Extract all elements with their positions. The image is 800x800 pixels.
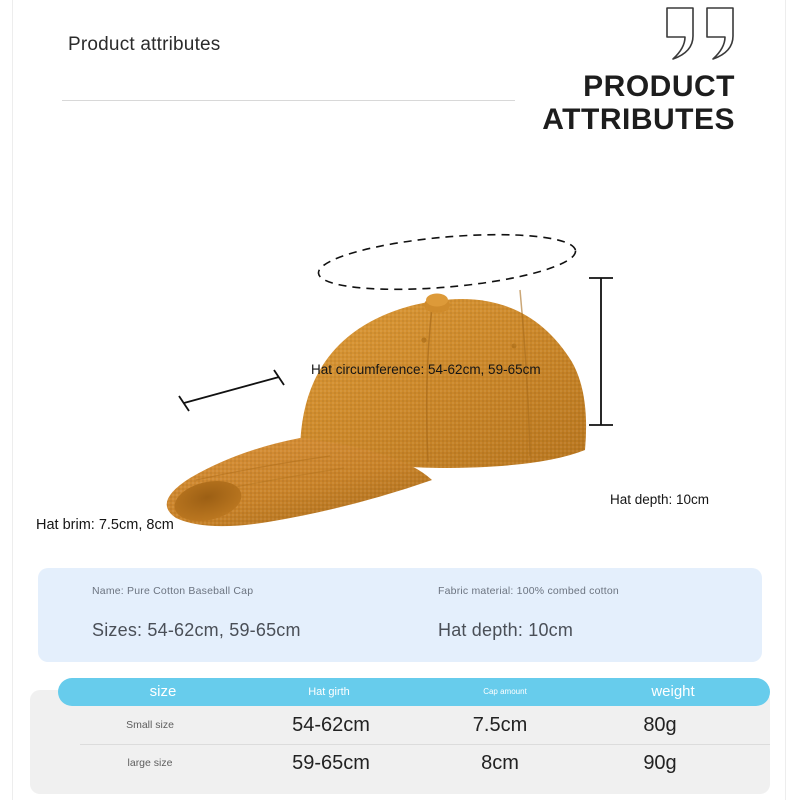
product-attributes-page: Product attributes PRODUCT ATTRIBUTES xyxy=(0,0,800,800)
column-header-hat-girth: Hat girth xyxy=(274,678,384,706)
cell-hat-girth: 59-65cm xyxy=(256,744,406,782)
table-row: large size 59-65cm 8cm 90g xyxy=(30,744,770,782)
headline-line-2: ATTRIBUTES xyxy=(275,103,735,136)
info-depth-value: Hat depth: 10cm xyxy=(438,620,573,641)
cell-hat-girth: 54-62cm xyxy=(256,706,406,744)
cell-cap-amount: 7.5cm xyxy=(430,706,570,744)
headline: PRODUCT ATTRIBUTES xyxy=(275,70,735,136)
circumference-ellipse xyxy=(316,226,577,298)
info-panel: Name: Pure Cotton Baseball Cap Fabric ma… xyxy=(38,568,762,662)
info-name-label: Name: Pure Cotton Baseball Cap xyxy=(92,585,253,597)
info-fabric-label: Fabric material: 100% combed cotton xyxy=(438,585,619,597)
annotation-depth: Hat depth: 10cm xyxy=(610,492,709,507)
annotation-brim: Hat brim: 7.5cm, 8cm xyxy=(36,517,174,533)
product-illustration: Hat circumference: 54-62cm, 59-65cm Hat … xyxy=(0,150,800,550)
cell-size: large size xyxy=(90,744,210,782)
info-sizes-value: Sizes: 54-62cm, 59-65cm xyxy=(92,620,301,641)
cap-diagram xyxy=(0,150,800,550)
headline-line-1: PRODUCT xyxy=(275,70,735,103)
cell-size: Small size xyxy=(90,706,210,744)
cap-crown xyxy=(300,290,586,468)
column-header-weight: weight xyxy=(618,678,728,706)
column-header-cap-amount: Cap amount xyxy=(450,678,560,706)
column-header-size: size xyxy=(118,678,208,706)
cell-weight: 90g xyxy=(590,744,730,782)
cell-cap-amount: 8cm xyxy=(430,744,570,782)
spec-table-header: size Hat girth Cap amount weight xyxy=(58,678,770,706)
page-title: Product attributes xyxy=(68,34,221,56)
annotation-circumference: Hat circumference: 54-62cm, 59-65cm xyxy=(311,362,541,377)
closing-quote-icon xyxy=(663,6,741,62)
cell-weight: 80g xyxy=(590,706,730,744)
brim-dimension-line xyxy=(179,370,284,411)
table-row: Small size 54-62cm 7.5cm 80g xyxy=(30,706,770,744)
depth-dimension-line xyxy=(589,278,613,425)
spec-table: size Hat girth Cap amount weight Small s… xyxy=(30,678,770,794)
